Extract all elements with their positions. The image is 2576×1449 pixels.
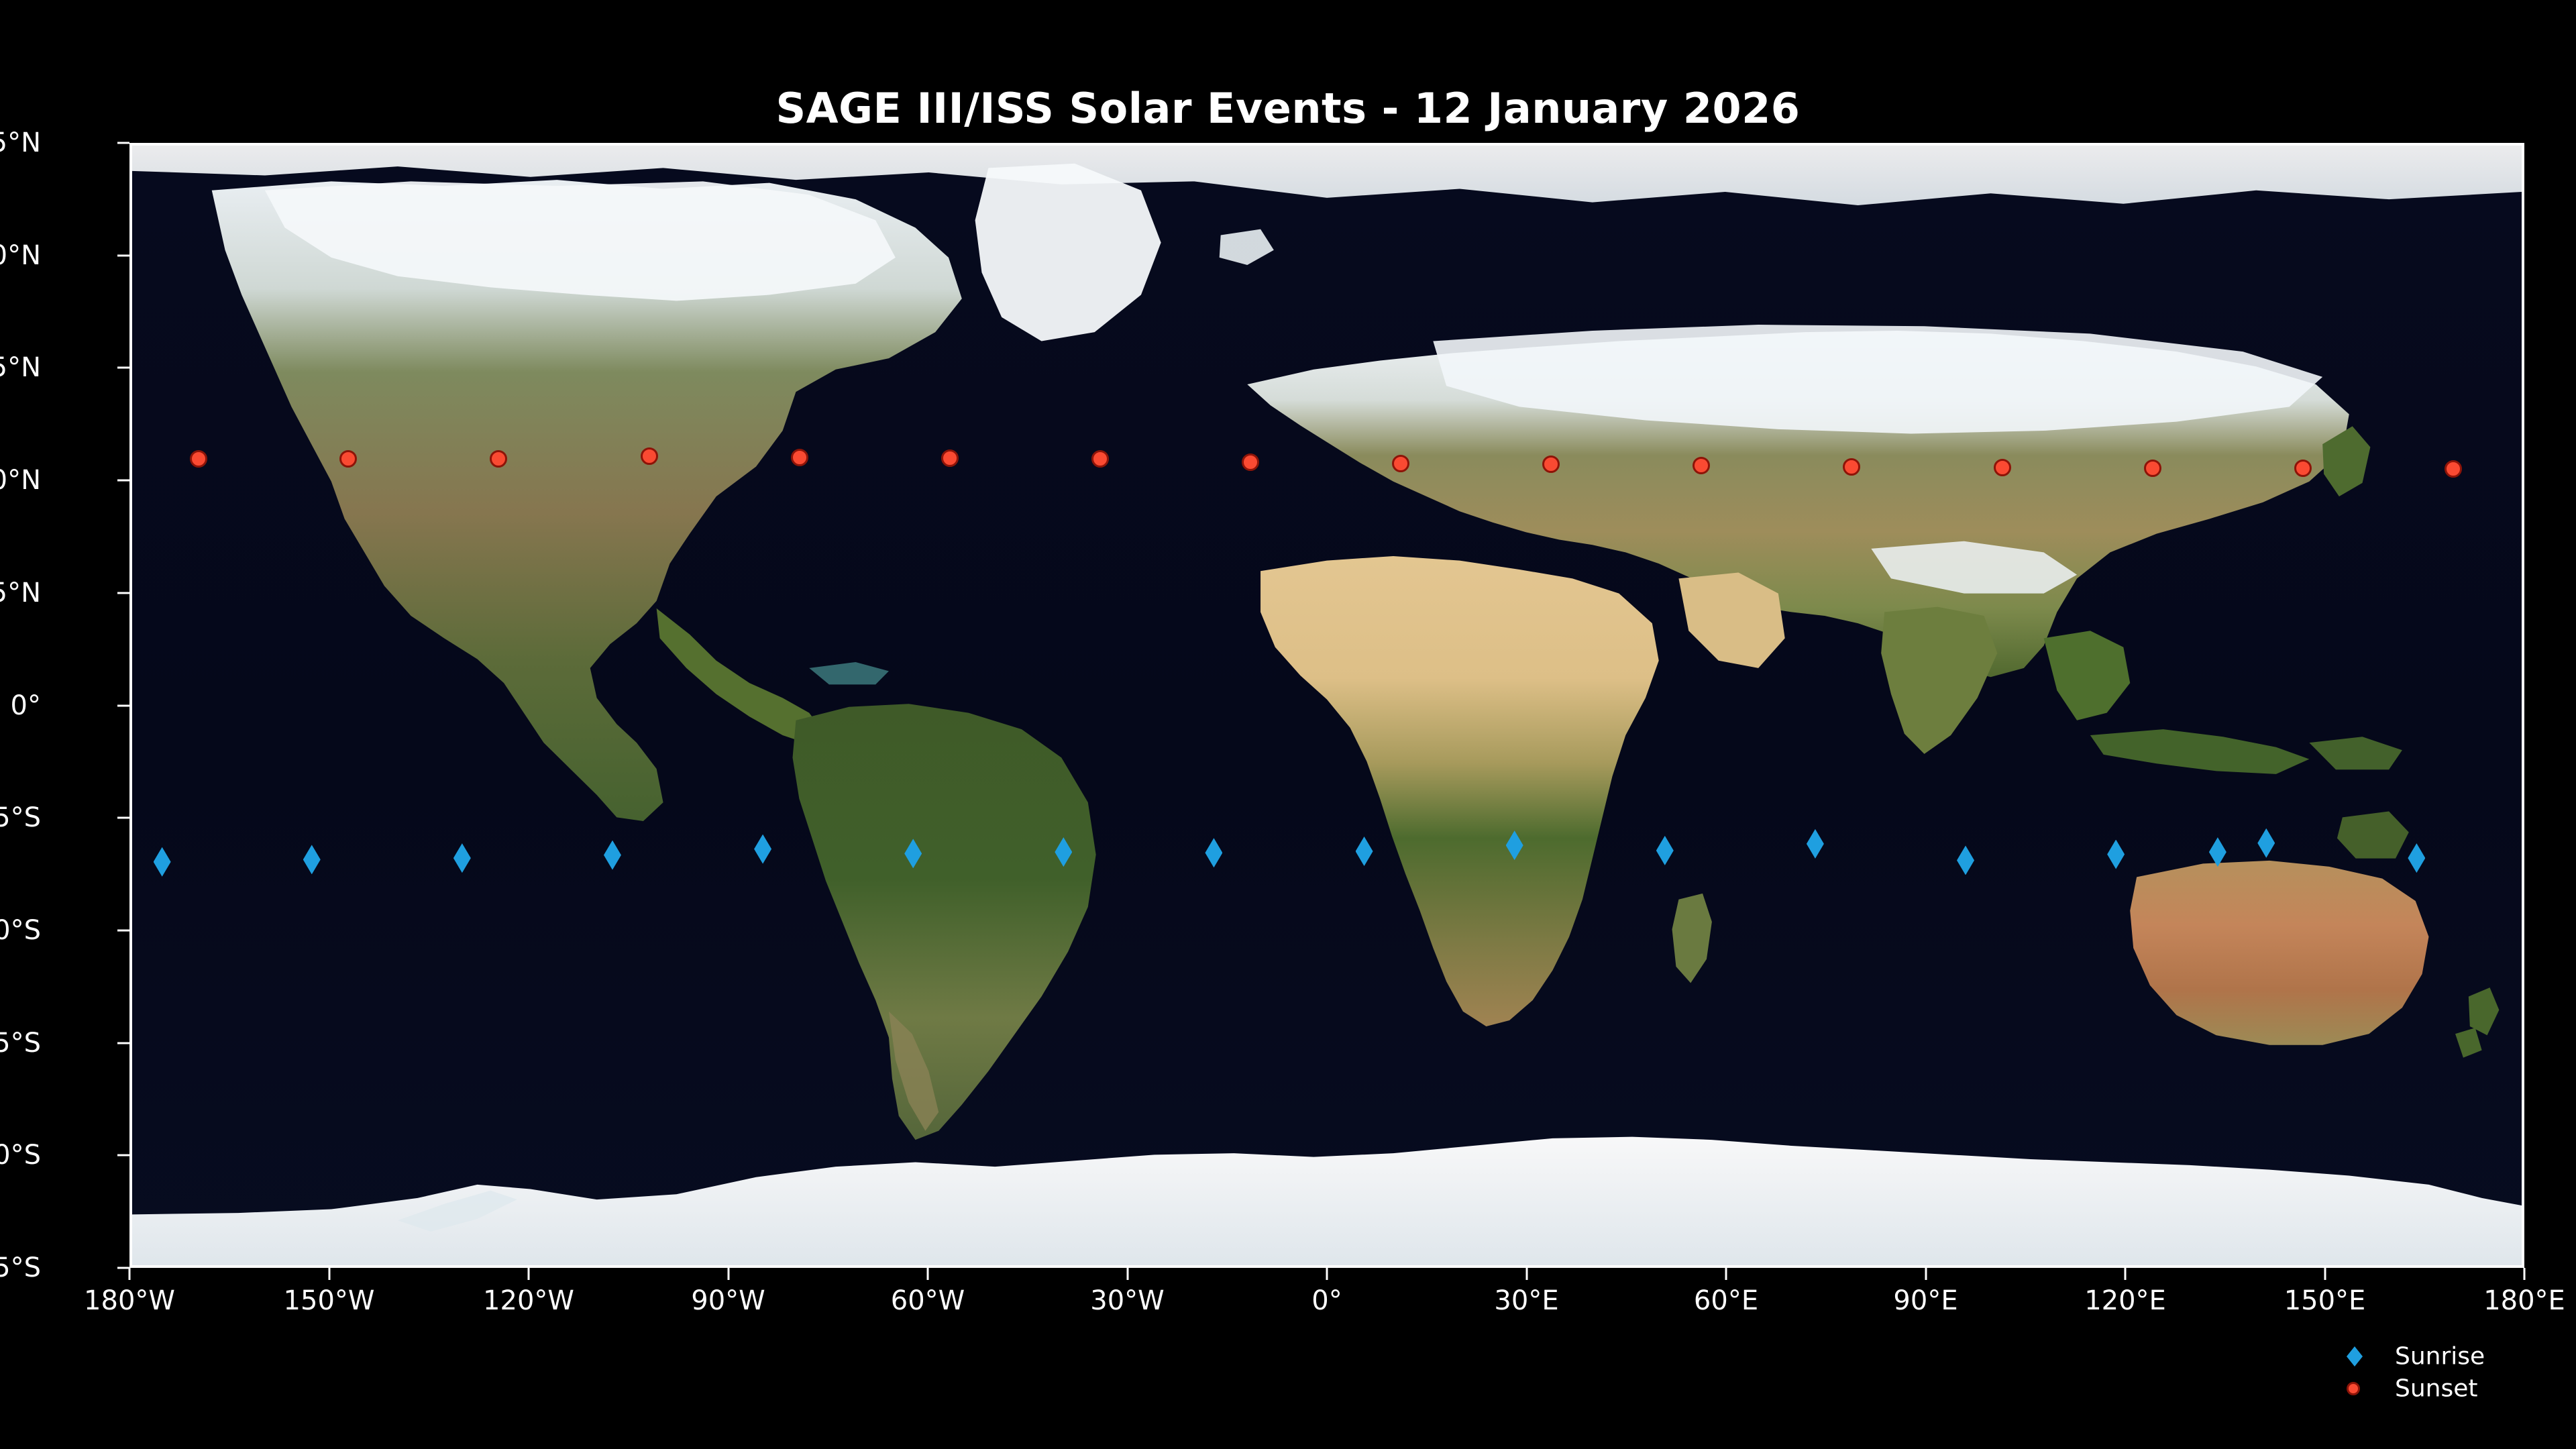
legend-item-sunrise[interactable]: Sunrise	[2347, 1340, 2568, 1373]
latitude-tick-label: 15°S	[0, 802, 41, 833]
sunset-event-marker[interactable]	[1542, 455, 1560, 473]
sunset-circle-icon	[2347, 1382, 2360, 1395]
sunrise-event-marker[interactable]	[1506, 830, 1523, 860]
legend-label-sunrise: Sunrise	[2395, 1343, 2485, 1371]
latitude-tick-label: 30°S	[0, 915, 41, 946]
sunrise-event-marker[interactable]	[1356, 837, 1373, 866]
longitude-tick-label: 90°E	[1893, 1285, 1957, 1316]
sunrise-event-marker[interactable]	[604, 841, 621, 870]
latitude-tick-mark	[117, 1042, 129, 1044]
sunrise-diamond-shape	[904, 839, 922, 868]
latitude-tick-label: 0°	[11, 690, 41, 721]
legend-item-sunset[interactable]: Sunset	[2347, 1373, 2568, 1405]
latitude-tick-mark	[117, 817, 129, 819]
sunrise-diamond-shape	[2257, 828, 2275, 858]
latitude-tick-label: 15°N	[0, 578, 41, 608]
sunset-event-marker[interactable]	[1091, 450, 1109, 468]
sunrise-diamond-shape	[2408, 843, 2425, 873]
sunrise-diamond-shape	[1205, 838, 1222, 867]
sunset-event-marker[interactable]	[2294, 460, 2312, 477]
longitude-tick-label: 120°W	[483, 1285, 574, 1316]
sunrise-diamond-shape	[1356, 837, 1373, 866]
sunrise-event-marker[interactable]	[1807, 829, 1824, 859]
longitude-tick-mark	[727, 1268, 729, 1280]
sunrise-diamond-shape	[1656, 836, 1674, 865]
sunrise-diamond-shape	[2107, 840, 2125, 869]
longitude-tick-mark	[2324, 1268, 2326, 1280]
longitude-tick-mark	[328, 1268, 330, 1280]
sunrise-diamond-shape	[604, 841, 621, 870]
sunset-event-marker[interactable]	[2144, 460, 2161, 477]
latitude-tick-mark	[117, 592, 129, 594]
sunrise-event-marker[interactable]	[2209, 837, 2226, 867]
figure-root: SAGE III/ISS Solar Events - 12 January 2…	[0, 0, 2576, 1449]
sunrise-event-marker[interactable]	[904, 839, 922, 868]
sunrise-diamond-shape	[453, 843, 471, 873]
longitude-tick-mark	[2524, 1268, 2526, 1280]
sunrise-event-marker[interactable]	[303, 845, 321, 874]
sunset-event-marker[interactable]	[339, 450, 357, 468]
event-markers-layer	[132, 146, 2522, 1265]
longitude-tick-mark	[1126, 1268, 1128, 1280]
sunrise-event-marker[interactable]	[453, 843, 471, 873]
world-map-plot[interactable]	[129, 143, 2524, 1268]
sunrise-diamond-icon	[2347, 1346, 2363, 1366]
page-title: SAGE III/ISS Solar Events - 12 January 2…	[0, 84, 2576, 133]
latitude-tick-label: 60°S	[0, 1140, 41, 1171]
sunset-event-marker[interactable]	[641, 447, 658, 465]
latitude-tick-label: 30°N	[0, 465, 41, 496]
sunrise-event-marker[interactable]	[754, 835, 771, 864]
sunrise-diamond-shape	[754, 835, 771, 864]
sunrise-event-marker[interactable]	[2408, 843, 2425, 873]
latitude-tick-label: 60°N	[0, 240, 41, 271]
longitude-tick-label: 60°W	[891, 1285, 965, 1316]
longitude-tick-label: 30°E	[1494, 1285, 1558, 1316]
legend-label-sunset: Sunset	[2395, 1375, 2478, 1403]
sunrise-event-marker[interactable]	[1957, 845, 1974, 875]
sunrise-diamond-shape	[1957, 845, 1974, 875]
latitude-tick-label: 45°N	[0, 352, 41, 383]
longitude-tick-mark	[129, 1268, 131, 1280]
sunrise-diamond-shape	[154, 847, 171, 877]
latitude-tick-mark	[117, 142, 129, 144]
sunrise-diamond-shape	[1807, 829, 1824, 859]
longitude-tick-mark	[1525, 1268, 1527, 1280]
latitude-tick-mark	[117, 254, 129, 256]
longitude-tick-mark	[1326, 1268, 1328, 1280]
longitude-tick-label: 90°W	[691, 1285, 765, 1316]
latitude-tick-mark	[117, 704, 129, 706]
sunrise-event-marker[interactable]	[154, 847, 171, 877]
sunset-event-marker[interactable]	[1843, 458, 1860, 476]
latitude-tick-label: 45°S	[0, 1028, 41, 1059]
sunset-event-marker[interactable]	[190, 450, 207, 468]
sunset-event-marker[interactable]	[1392, 455, 1409, 472]
longitude-tick-label: 30°W	[1090, 1285, 1164, 1316]
sunrise-diamond-shape	[2209, 837, 2226, 867]
longitude-tick-label: 60°E	[1694, 1285, 1758, 1316]
legend: Sunrise Sunset	[2347, 1340, 2568, 1405]
latitude-tick-mark	[117, 480, 129, 482]
sunrise-diamond-shape	[1506, 830, 1523, 860]
sunrise-event-marker[interactable]	[2107, 840, 2125, 869]
sunset-event-marker[interactable]	[1693, 457, 1710, 474]
sunset-event-marker[interactable]	[791, 449, 808, 466]
sunset-event-marker[interactable]	[941, 449, 959, 467]
longitude-tick-label: 180°E	[2483, 1285, 2565, 1316]
longitude-tick-mark	[1725, 1268, 1727, 1280]
longitude-tick-mark	[528, 1268, 530, 1280]
sunrise-event-marker[interactable]	[1205, 838, 1222, 867]
sunrise-event-marker[interactable]	[1055, 837, 1072, 867]
sunset-event-marker[interactable]	[2445, 460, 2462, 478]
longitude-tick-label: 120°E	[2084, 1285, 2166, 1316]
longitude-tick-mark	[1925, 1268, 1927, 1280]
sunrise-diamond-shape	[1055, 837, 1072, 867]
sunrise-diamond-shape	[303, 845, 321, 874]
longitude-tick-mark	[2125, 1268, 2127, 1280]
sunset-event-marker[interactable]	[490, 450, 507, 468]
longitude-tick-label: 150°W	[284, 1285, 375, 1316]
sunrise-event-marker[interactable]	[1656, 836, 1674, 865]
latitude-tick-mark	[117, 929, 129, 931]
latitude-tick-mark	[117, 1155, 129, 1157]
longitude-tick-mark	[927, 1268, 929, 1280]
latitude-tick-mark	[117, 1267, 129, 1269]
longitude-tick-label: 0°	[1311, 1285, 1342, 1316]
latitude-tick-mark	[117, 367, 129, 369]
sunset-event-marker[interactable]	[1994, 459, 2011, 476]
sunset-event-marker[interactable]	[1242, 453, 1259, 471]
latitude-tick-label: 75°N	[0, 127, 41, 158]
longitude-tick-label: 180°W	[84, 1285, 175, 1316]
sunrise-event-marker[interactable]	[2257, 828, 2275, 858]
latitude-tick-label: 75°S	[0, 1252, 41, 1283]
longitude-tick-label: 150°E	[2284, 1285, 2366, 1316]
